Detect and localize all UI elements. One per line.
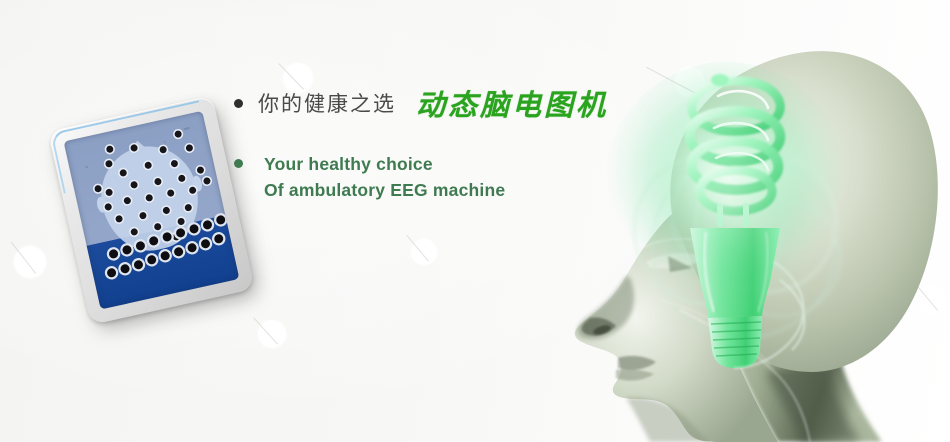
jack-socket <box>187 242 198 253</box>
head-bulb-artwork <box>530 0 950 442</box>
device-label-l: L <box>164 139 167 143</box>
jack-socket <box>120 263 131 274</box>
jack-socket <box>189 223 200 234</box>
jack-socket <box>133 259 144 270</box>
device-label-r: R <box>85 165 88 169</box>
electrode-dot <box>196 166 204 174</box>
electrode-dot <box>174 130 182 138</box>
electrode-dot <box>203 177 211 185</box>
jack-socket <box>160 251 171 262</box>
english-tagline-line1: Your healthy choice <box>264 154 433 175</box>
jack-socket <box>215 215 226 226</box>
electrode-dot <box>185 144 193 152</box>
chinese-tagline: 你的健康之选 <box>258 88 396 118</box>
jack-socket <box>200 238 211 249</box>
electrode-dot <box>106 145 114 153</box>
jack-socket <box>202 219 213 230</box>
jack-socket <box>108 249 119 260</box>
jack-socket <box>213 234 224 245</box>
jack-socket <box>173 246 184 257</box>
bullet-english <box>234 159 243 168</box>
device-electrode-panel: R L REF <box>64 111 240 310</box>
jack-socket <box>106 267 117 278</box>
english-tagline-line2: Of ambulatory EEG machine <box>264 180 505 201</box>
bullet-chinese <box>234 99 243 108</box>
chinese-headline: 动态脑电图机 <box>416 82 608 124</box>
device-label-ref: REF <box>183 126 190 131</box>
promo-banner: R L REF <box>0 0 950 442</box>
jack-socket <box>146 255 157 266</box>
